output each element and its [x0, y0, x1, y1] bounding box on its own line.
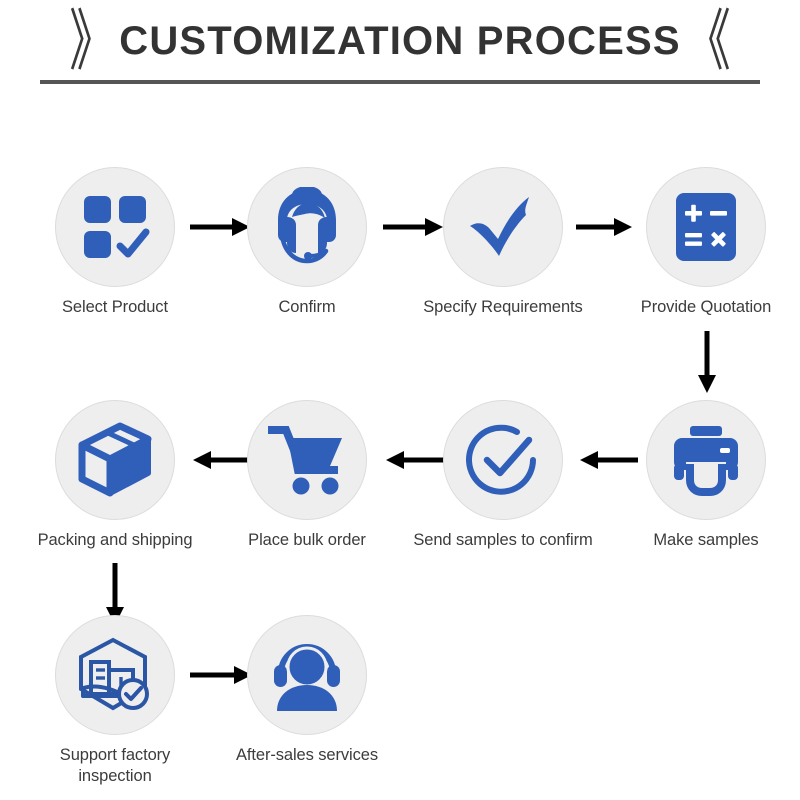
step-select-product[interactable]: Select Product [25, 167, 205, 318]
step-icon-circle [443, 400, 563, 520]
step-packing-shipping[interactable]: Packing and shipping [25, 400, 205, 551]
step-specify-requirements[interactable]: Specify Requirements [413, 167, 593, 318]
step-icon-circle [55, 615, 175, 735]
step-confirm[interactable]: Confirm [217, 167, 397, 318]
step-after-sales[interactable]: After-sales services [217, 615, 397, 766]
step-icon-circle [55, 167, 175, 287]
shopping-cart-icon [268, 424, 346, 496]
factory-shield-check-icon [75, 636, 155, 714]
checkmark-icon [466, 192, 540, 262]
connector-arrow-down [694, 331, 720, 393]
step-label: Packing and shipping [25, 530, 205, 551]
step-label: Select Product [25, 297, 205, 318]
step-icon-circle [247, 167, 367, 287]
step-send-samples[interactable]: Send samples to confirm [413, 400, 593, 551]
step-icon-circle [646, 167, 766, 287]
process-flow: Select Product [0, 0, 800, 800]
step-icon-circle [247, 615, 367, 735]
step-label: Specify Requirements [413, 297, 593, 318]
grid-check-icon [80, 192, 150, 262]
step-icon-circle [247, 400, 367, 520]
step-icon-circle [646, 400, 766, 520]
package-box-icon [76, 421, 154, 499]
printer-icon [668, 424, 744, 496]
step-provide-quotation[interactable]: Provide Quotation [616, 167, 796, 318]
step-icon-circle [55, 400, 175, 520]
step-label: After-sales services [217, 745, 397, 766]
circle-check-icon [465, 422, 541, 498]
step-icon-circle [443, 167, 563, 287]
support-person-icon [269, 639, 345, 711]
step-support-factory[interactable]: Support factory inspection [25, 615, 205, 787]
step-label: Confirm [217, 297, 397, 318]
step-label: Support factory inspection [25, 745, 205, 787]
headset-agent-icon [268, 187, 346, 267]
step-label: Place bulk order [217, 530, 397, 551]
step-make-samples[interactable]: Make samples [616, 400, 796, 551]
calculator-icon [674, 191, 738, 263]
step-place-bulk-order[interactable]: Place bulk order [217, 400, 397, 551]
step-label: Send samples to confirm [413, 530, 593, 551]
step-label: Make samples [616, 530, 796, 551]
step-label: Provide Quotation [616, 297, 796, 318]
